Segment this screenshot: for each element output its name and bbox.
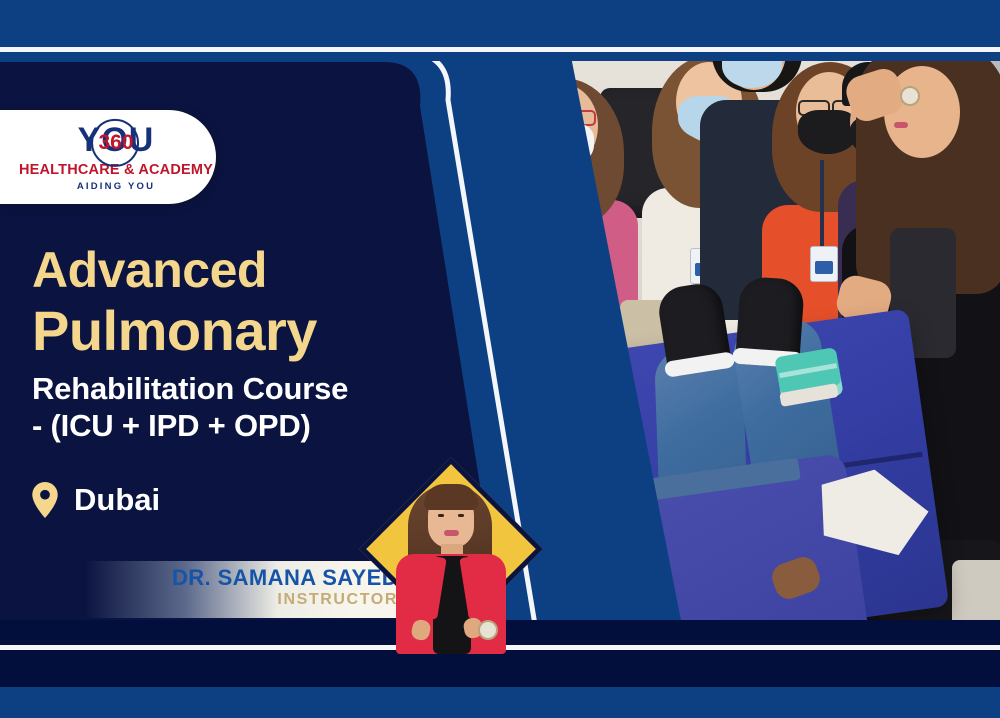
instructor-portrait: [372, 470, 537, 655]
course-promo-banner: YOU 360 HEALTHCARE & ACADEMY AIDING YOU …: [0, 0, 1000, 718]
title-line-settings: - (ICU + IPD + OPD): [32, 407, 502, 445]
title-line-rehab-course: Rehabilitation Course: [32, 370, 502, 408]
location-label: Dubai: [74, 482, 160, 518]
brand-logo[interactable]: YOU 360 HEALTHCARE & ACADEMY AIDING YOU: [0, 110, 216, 204]
instructor-name: DR. SAMANA SAYED: [60, 566, 398, 590]
title-line-advanced: Advanced: [32, 243, 502, 298]
course-title: Advanced Pulmonary Rehabilitation Course…: [32, 243, 502, 445]
logo-you-wordmark: YOU 360: [19, 123, 213, 159]
title-line-pulmonary: Pulmonary: [32, 300, 502, 362]
logo-tagline-sub: AIDING YOU: [19, 181, 213, 192]
instructor-portrait-block: [372, 470, 537, 640]
instructor-role: INSTRUCTOR: [60, 591, 398, 609]
location-row: Dubai: [32, 482, 160, 518]
map-pin-icon: [32, 482, 58, 518]
logo-360-text: 360: [98, 131, 133, 152]
